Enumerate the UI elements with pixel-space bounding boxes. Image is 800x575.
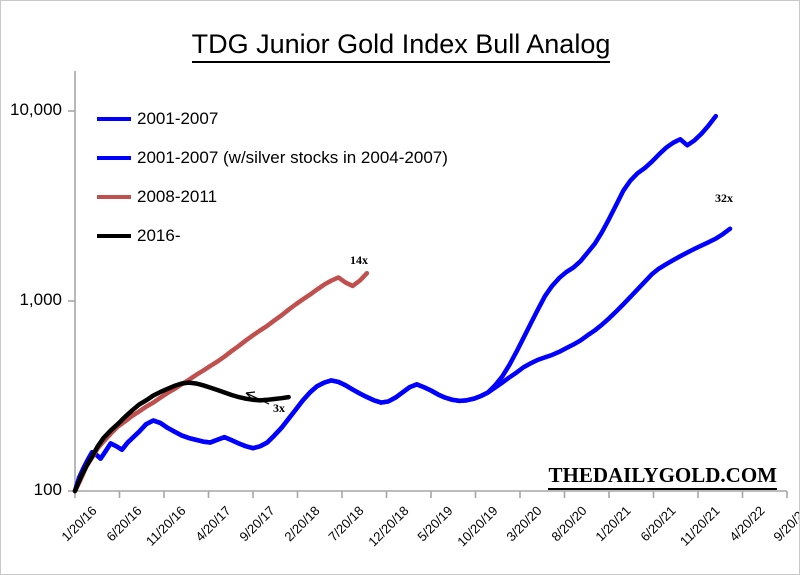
annotation-32x: 32x bbox=[715, 191, 733, 206]
axes bbox=[75, 71, 787, 491]
annotation-3x: 3x bbox=[273, 401, 285, 416]
y-axis-tick-label: 1,000 bbox=[19, 290, 62, 310]
legend-item-1[interactable]: 2001-2007 (w/silver stocks in 2004-2007) bbox=[97, 148, 448, 168]
legend-item-0[interactable]: 2001-2007 bbox=[97, 109, 218, 129]
legend-swatch-icon bbox=[97, 156, 131, 160]
legend-item-label: 2008-2011 bbox=[137, 187, 217, 207]
legend-item-3[interactable]: 2016- bbox=[97, 226, 180, 246]
watermark-thedailygold: THEDAILYGOLD.COM bbox=[548, 463, 777, 490]
legend-swatch-icon bbox=[97, 195, 131, 199]
legend-item-label: 2001-2007 (w/silver stocks in 2004-2007) bbox=[137, 148, 448, 168]
y-axis-tick-label: 10,000 bbox=[10, 100, 62, 120]
y-axis-tick-label: 100 bbox=[34, 480, 62, 500]
legend-item-label: 2001-2007 bbox=[137, 109, 218, 129]
series-line-0 bbox=[75, 229, 730, 491]
y-axis-ticks bbox=[68, 111, 75, 491]
data-series-group bbox=[75, 116, 730, 491]
series-line-1 bbox=[75, 116, 716, 491]
legend-swatch-icon bbox=[97, 234, 131, 238]
annotation-14x: 14x bbox=[350, 253, 368, 268]
chart-container: TDG Junior Gold Index Bull Analog 10,000… bbox=[0, 0, 800, 575]
x-axis-ticks bbox=[75, 491, 787, 498]
legend-item-2[interactable]: 2008-2011 bbox=[97, 187, 217, 207]
legend-swatch-icon bbox=[97, 117, 131, 121]
legend-item-label: 2016- bbox=[137, 226, 180, 246]
